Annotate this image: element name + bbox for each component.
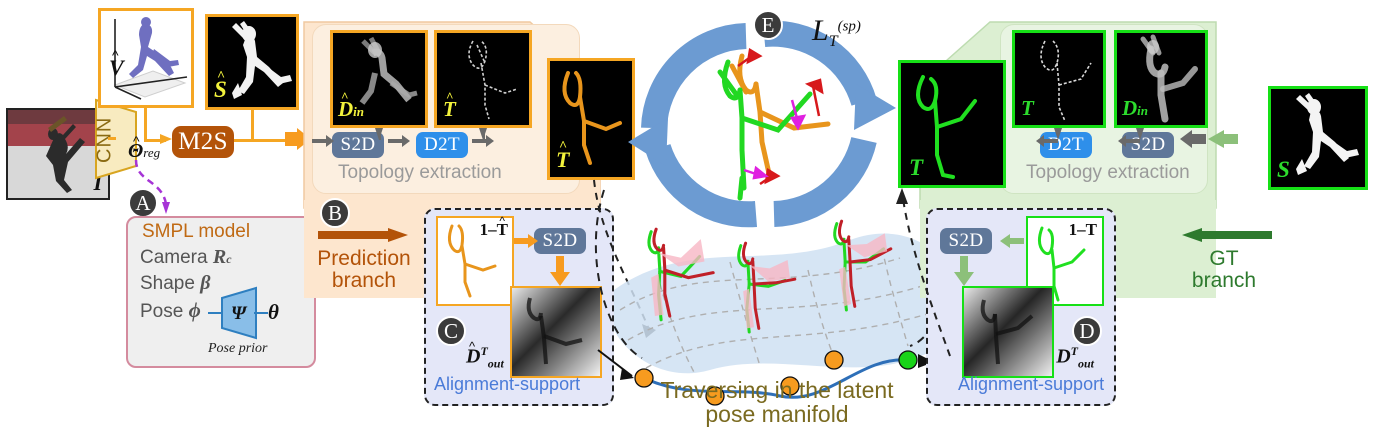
gt-branch-arrow — [1176, 228, 1272, 246]
pred-depth-map — [333, 33, 425, 125]
pred-depth-panel: Din ^ — [330, 30, 428, 128]
gt-distance-map — [964, 288, 1052, 376]
connector-phi-to-decoder — [208, 312, 222, 314]
connector-decoder-to-theta — [254, 312, 268, 314]
marker-c: C — [436, 316, 466, 346]
marker-e: E — [753, 10, 783, 40]
gt-result-panel: T — [898, 60, 1006, 188]
smpl-row-camera: Camera Rc — [140, 246, 232, 269]
loss-symbol-label: LT(sp) — [812, 14, 861, 51]
pred-dout-panel: DTout ^ — [510, 286, 602, 378]
gt-result-skeleton — [901, 63, 1003, 185]
pose-prior-symbol: Ψ — [231, 303, 246, 325]
pred-topology-arrows — [310, 126, 520, 164]
pred-topology-extraction-label: Topology extraction — [338, 162, 502, 184]
gt-callout-dashes — [880, 186, 960, 366]
pred-topology-panel: T ^ — [434, 30, 532, 128]
m2s-block[interactable]: M2S — [172, 126, 234, 158]
gt-s-to-s2d-arrow — [1178, 126, 1248, 162]
smpl-title: SMPL model — [142, 221, 250, 243]
arrow-cnn-to-m2s — [160, 132, 176, 150]
connector-silhouette-down — [251, 110, 254, 141]
smpl-theta-out: θ — [268, 300, 279, 325]
gt-silhouette-shape — [1271, 89, 1365, 187]
marker-d: D — [1072, 316, 1102, 346]
pred-one-minus-t-hat: ^ — [499, 214, 505, 228]
gt-branch-label: GT branch — [1176, 248, 1272, 292]
cnn-label: CNN — [95, 112, 115, 168]
marker-a: A — [128, 188, 158, 218]
gt-topology-extraction-label: Topology extraction — [1026, 162, 1190, 184]
mesh-hat-accent: ^ — [112, 47, 119, 63]
pred-align-arrows — [512, 224, 592, 292]
theta-hat-accent: ^ — [133, 133, 140, 149]
prediction-branch-label: Prediction branch — [316, 248, 412, 292]
connector-image-to-cnn — [108, 137, 116, 140]
pred-inverted-skeleton — [438, 218, 512, 304]
prediction-branch-arrow — [318, 228, 414, 246]
gt-alignment-support-label: Alignment-support — [958, 374, 1104, 395]
pred-dout-hat: ^ — [469, 339, 475, 354]
gt-silhouette-panel: S — [1268, 86, 1368, 190]
pred-one-minus-t-panel: 1–T ^ — [436, 216, 514, 306]
gt-topology-skeleton — [1015, 33, 1103, 125]
mesh-panel: V ^ — [98, 8, 194, 108]
gt-depth-map — [1117, 33, 1205, 125]
gt-topology-panel: T — [1012, 30, 1106, 128]
gt-dout-panel: DTout — [962, 286, 1054, 378]
gt-depth-panel: Din — [1114, 30, 1208, 128]
connector-cnn-top — [144, 107, 147, 139]
pred-topology-skeleton — [437, 33, 529, 125]
pose-prior-caption: Pose prior — [208, 341, 268, 357]
pred-alignment-support-label: Alignment-support — [434, 374, 580, 395]
smpl-row-pose: Pose ϕ — [140, 298, 201, 323]
silhouette-shape — [208, 17, 296, 107]
pred-silhouette-panel: S ^ — [205, 14, 299, 110]
marker-b: B — [320, 198, 350, 228]
pred-distance-map — [512, 288, 600, 376]
smpl-row-shape: Shape β — [140, 272, 210, 295]
